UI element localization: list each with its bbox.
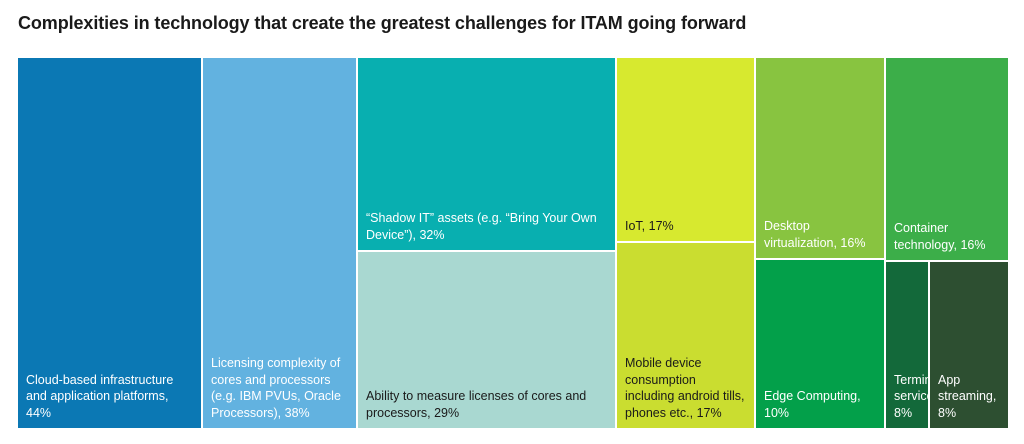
treemap-tile-label: “Shadow IT” assets (e.g. “Bring Your Own… xyxy=(366,210,609,243)
treemap-tile-ability-to-measure-licenses[interactable]: Ability to measure licenses of cores and… xyxy=(358,252,615,428)
treemap-tile-label: Ability to measure licenses of cores and… xyxy=(366,388,609,421)
treemap-tile-terminal-services[interactable]: Terminal services, 8% xyxy=(886,262,928,428)
treemap-tile-label: Container technology, 16% xyxy=(894,220,1002,253)
treemap-tile-iot[interactable]: IoT, 17% xyxy=(617,58,754,241)
treemap-tile-label: IoT, 17% xyxy=(625,218,748,235)
treemap-tile-label: App streaming, 8% xyxy=(938,372,1002,422)
treemap-tile-licensing-complexity[interactable]: Licensing complexity of cores and proces… xyxy=(203,58,356,428)
treemap-tile-desktop-virtualization[interactable]: Desktop virtualization, 16% xyxy=(756,58,884,258)
treemap-tile-label: Licensing complexity of cores and proces… xyxy=(211,355,350,421)
treemap-tile-label: Cloud-based infrastructure and applicati… xyxy=(26,372,195,422)
treemap-tile-label: Mobile device consumption including andr… xyxy=(625,355,748,421)
treemap-tile-edge-computing[interactable]: Edge Computing, 10% xyxy=(756,260,884,428)
treemap-tile-label: Terminal services, 8% xyxy=(894,372,922,422)
treemap-chart-page: Complexities in technology that create t… xyxy=(0,0,1024,444)
treemap-tile-shadow-it-assets[interactable]: “Shadow IT” assets (e.g. “Bring Your Own… xyxy=(358,58,615,250)
treemap-tile-mobile-device-consumption[interactable]: Mobile device consumption including andr… xyxy=(617,243,754,428)
treemap-tile-app-streaming[interactable]: App streaming, 8% xyxy=(930,262,1008,428)
treemap-tile-cloud-infrastructure[interactable]: Cloud-based infrastructure and applicati… xyxy=(18,58,201,428)
page-title: Complexities in technology that create t… xyxy=(18,12,998,34)
treemap-plot-area: Cloud-based infrastructure and applicati… xyxy=(18,58,1008,428)
treemap-tile-label: Desktop virtualization, 16% xyxy=(764,218,878,251)
treemap-tile-label: Edge Computing, 10% xyxy=(764,388,878,421)
treemap-tile-container-technology[interactable]: Container technology, 16% xyxy=(886,58,1008,260)
